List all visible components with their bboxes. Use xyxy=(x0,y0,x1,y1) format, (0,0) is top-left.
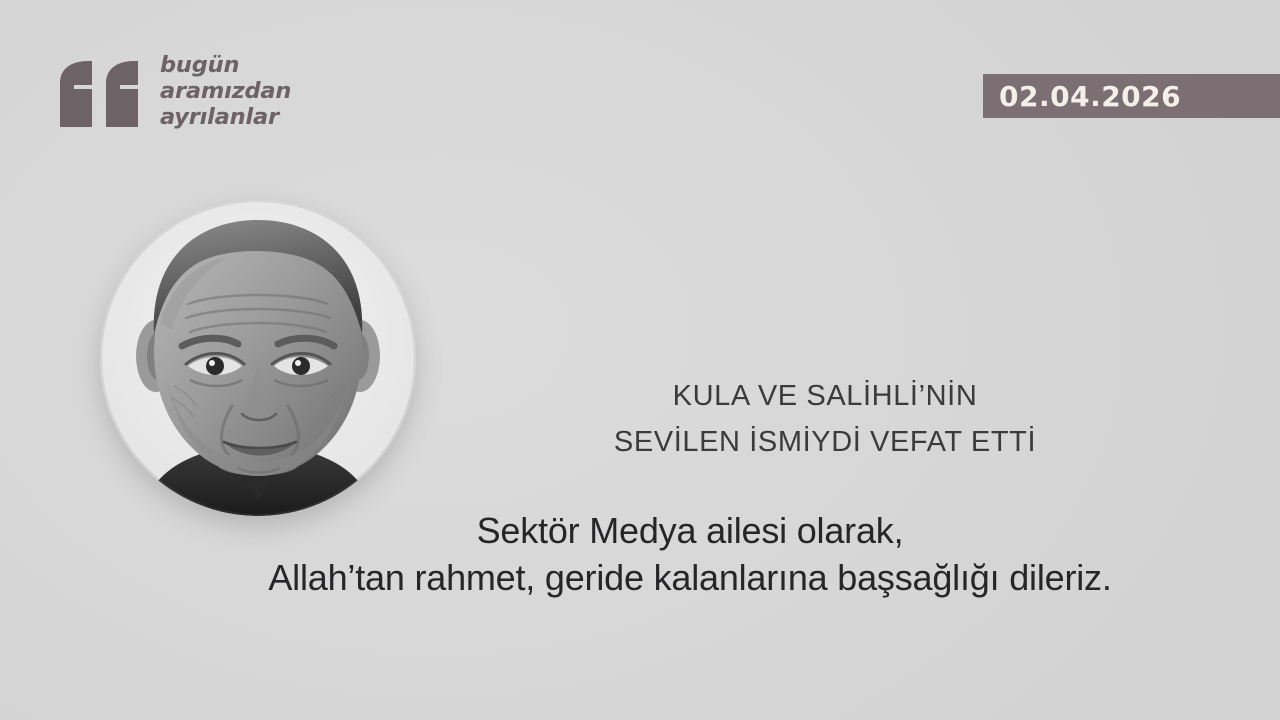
brand-line-1: bugün xyxy=(160,52,291,78)
brand-logo: bugün aramızdan ayrılanlar xyxy=(52,52,291,134)
condolence-line-2: Allah’tan rahmet, geride kalanlarına baş… xyxy=(190,555,1190,602)
headline-line-2: SEVİLEN İSMİYDİ VEFAT ETTİ xyxy=(430,420,1220,466)
double-quote-icon xyxy=(52,59,140,134)
condolence-message: Sektör Medya ailesi olarak, Allah’tan ra… xyxy=(190,508,1190,602)
memorial-card: bugün aramızdan ayrılanlar 02.04.2026 xyxy=(0,0,1280,720)
condolence-line-1: Sektör Medya ailesi olarak, xyxy=(190,508,1190,555)
brand-wordmark: bugün aramızdan ayrılanlar xyxy=(160,52,291,130)
brand-line-3: ayrılanlar xyxy=(160,104,291,130)
headline: KULA VE SALİHLİ’NİN SEVİLEN İSMİYDİ VEFA… xyxy=(430,374,1220,466)
date-badge: 02.04.2026 xyxy=(983,74,1280,118)
headline-line-1: KULA VE SALİHLİ’NİN xyxy=(430,374,1220,420)
portrait-photo xyxy=(100,200,416,516)
brand-line-2: aramızdan xyxy=(160,78,291,104)
date-badge-text: 02.04.2026 xyxy=(983,80,1181,113)
